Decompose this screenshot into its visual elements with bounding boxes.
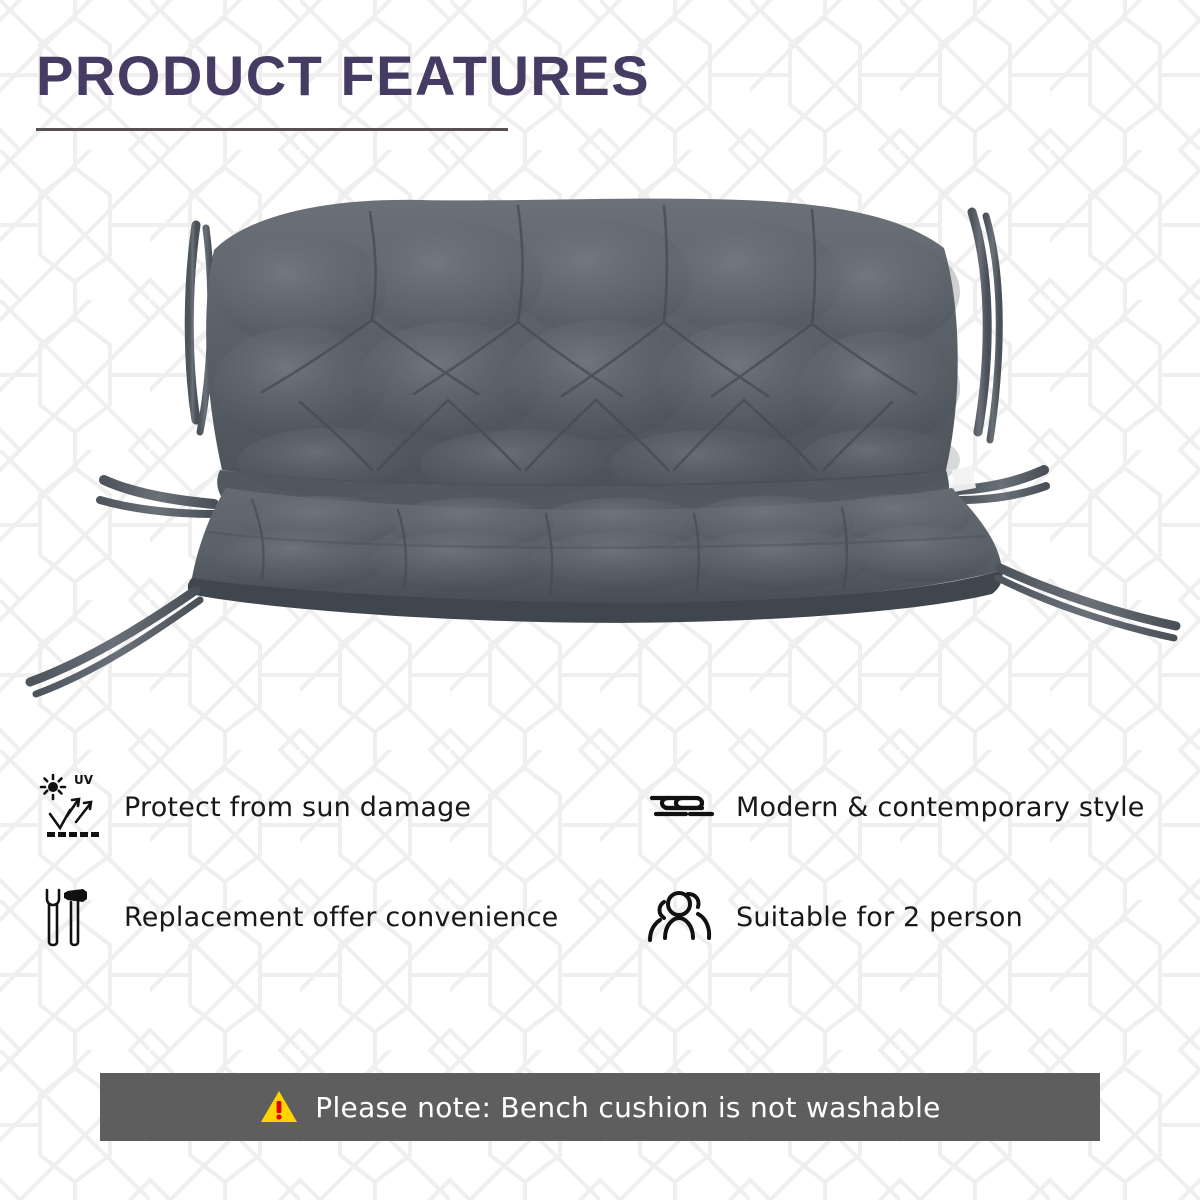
feature-item-modern-style: Modern & contemporary style [646, 770, 1186, 844]
page-title: PRODUCT FEATURES [36, 48, 650, 104]
cushion-tufting [214, 220, 960, 498]
title-underline [36, 128, 508, 131]
feature-label: Modern & contemporary style [736, 792, 1145, 823]
care-tag [952, 466, 976, 492]
tie-strap [998, 568, 1176, 638]
feature-label: Suitable for 2 person [736, 902, 1023, 933]
page-header: PRODUCT FEATURES [36, 48, 650, 131]
note-bar: Please note: Bench cushion is not washab… [100, 1073, 1100, 1141]
features-grid: UV Protect from sun damage [34, 752, 1184, 972]
modern-style-lines-icon [646, 770, 720, 844]
warning-triangle-icon [259, 1089, 299, 1125]
feature-item-capacity: Suitable for 2 person [646, 880, 1186, 954]
uv-sun-protection-icon: UV [34, 770, 108, 844]
feature-item-replacement: Replacement offer convenience [34, 880, 646, 954]
two-people-icon [646, 880, 720, 954]
uv-icon-label: UV [74, 773, 94, 787]
tie-strap [972, 212, 999, 440]
tie-strap [30, 590, 200, 694]
feature-label: Protect from sun damage [124, 792, 471, 823]
note-text: Please note: Bench cushion is not washab… [315, 1091, 940, 1124]
product-image [0, 170, 1200, 730]
tie-strap [100, 480, 214, 514]
wrench-hammer-tools-icon [34, 880, 108, 954]
feature-item-sun-protection: UV Protect from sun damage [34, 770, 646, 844]
feature-label: Replacement offer convenience [124, 902, 558, 933]
